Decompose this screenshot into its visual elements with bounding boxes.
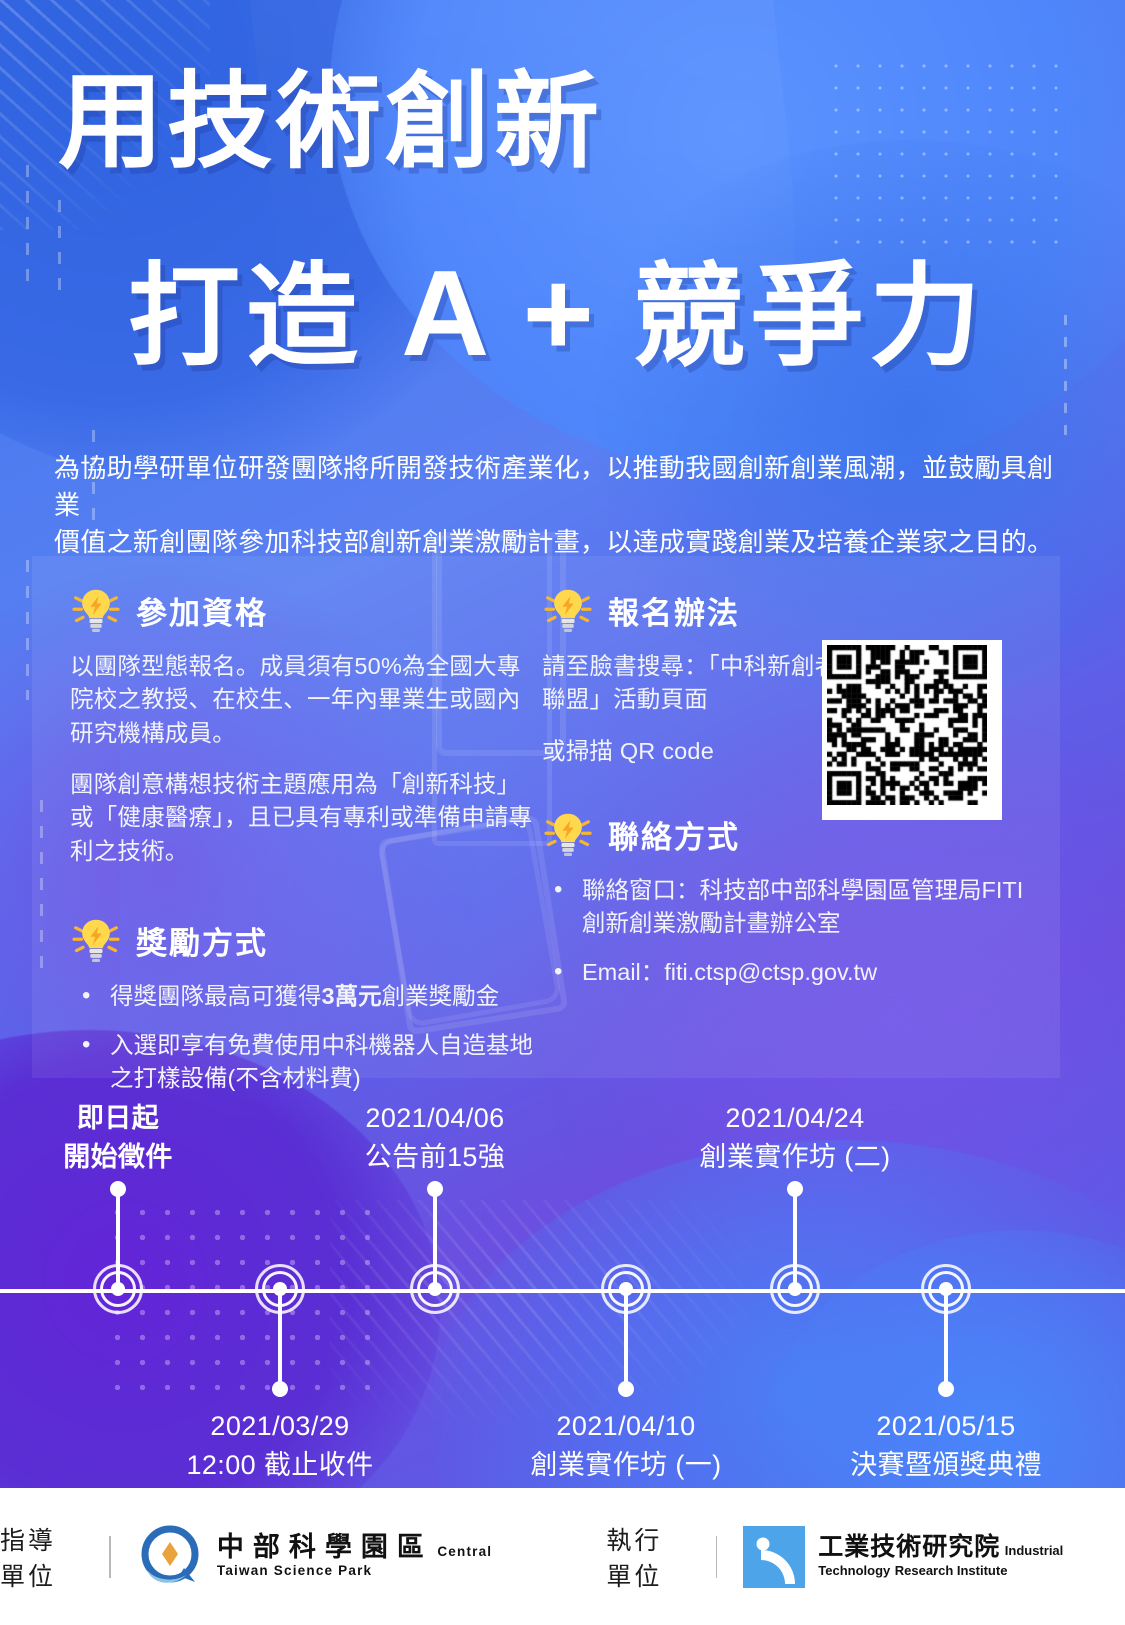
executor-label: 執行單位: [606, 1521, 689, 1593]
supervisor-label: 指導單位: [0, 1521, 83, 1593]
itri-logo: 工業技術研究院 Industrial Technology Research I…: [743, 1526, 1125, 1588]
timeline-stem: [278, 1289, 282, 1389]
section-registration-body: 請至臉書搜尋：「中科新創者聯盟」活動頁面 或掃描 QR code: [542, 650, 852, 768]
timeline-label-title: 12:00 截止收件: [186, 1446, 373, 1485]
lightbulb-icon: [542, 808, 594, 860]
intro-paragraph: 為協助學研單位研發團隊將所開發技術產業化，以推動我國創新創業風潮，並鼓勵具創業 …: [54, 450, 1054, 561]
section-registration-title: 報名辦法: [608, 588, 740, 633]
timeline-label-title: 公告前15強: [365, 1138, 505, 1177]
timeline-label-title: 開始徵件: [63, 1138, 173, 1177]
timeline-stem: [793, 1189, 797, 1289]
timeline-stem-tip: [938, 1381, 954, 1397]
section-eligibility-header: 參加資格: [70, 584, 540, 636]
bg-dot-grid-topright: [825, 55, 1065, 245]
bg-dashed-stroke-right: [1064, 315, 1067, 435]
timeline-label-date: 2021/04/10: [530, 1407, 721, 1446]
headline-line-2-post: 競爭力: [633, 254, 987, 379]
contact-list: 聯絡窗口：科技部中部科學園區管理局FITI創新創業激勵計畫辦公室 Email：f…: [542, 874, 1042, 989]
footer-supervisor-group: 指導單位 中部科學園區 Central Taiwan Science Park: [0, 1521, 521, 1593]
timeline-label: 即日起開始徵件: [63, 1099, 173, 1177]
footer: 指導單位 中部科學園區 Central Taiwan Science Park: [0, 1488, 1125, 1625]
footer-divider: [716, 1536, 717, 1578]
timeline-label-title: 創業實作坊 (一): [530, 1446, 721, 1485]
timeline: 即日起開始徵件2021/03/2912:00 截止收件2021/04/06公告前…: [0, 1078, 1125, 1488]
registration-paragraph-1: 請至臉書搜尋：「中科新創者聯盟」活動頁面: [542, 650, 852, 717]
bg-dash-col-1: [26, 165, 29, 285]
itri-text: 工業技術研究院 Industrial Technology Research I…: [818, 1533, 1125, 1580]
info-column-left: 參加資格 以團隊型態報名。成員須有50%為全國大專院校之教授、在校生、一年內畢業…: [70, 584, 540, 1111]
headline-line-2-pre: 打造: [128, 254, 364, 379]
headline-a-plus: A +: [401, 245, 596, 381]
itri-mark-icon: [743, 1526, 805, 1588]
section-eligibility: 參加資格 以團隊型態報名。成員須有50%為全國大專院校之教授、在校生、一年內畢業…: [70, 584, 540, 868]
timeline-label: 2021/05/15決賽暨頒獎典禮: [850, 1407, 1042, 1485]
timeline-label-date: 2021/05/15: [850, 1407, 1042, 1446]
footer-divider: [109, 1536, 110, 1578]
section-contact: 聯絡方式 聯絡窗口：科技部中部科學園區管理局FITI創新創業激勵計畫辦公室 Em…: [542, 808, 1042, 989]
section-award: 獎勵方式 得獎團隊最高可獲得3萬元創業獎勵金 入選即享有免費使用中科機器人自造基…: [70, 914, 540, 1095]
timeline-label: 2021/04/06公告前15強: [365, 1099, 505, 1177]
intro-line-1: 為協助學研單位研發團隊將所開發技術產業化，以推動我國創新創業風潮，並鼓勵具創業: [54, 450, 1054, 524]
qr-code[interactable]: [822, 640, 1002, 820]
info-column-right: 報名辦法 請至臉書搜尋：「中科新創者聯盟」活動頁面 或掃描 QR code: [542, 584, 1042, 1005]
list-item: 聯絡窗口：科技部中部科學園區管理局FITI創新創業激勵計畫辦公室: [542, 874, 1042, 940]
timeline-label-date: 2021/04/24: [699, 1099, 890, 1138]
timeline-label-date: 2021/04/06: [365, 1099, 505, 1138]
itri-name-en-2: Research Institute: [895, 1563, 1008, 1578]
timeline-stem: [624, 1289, 628, 1389]
ctsp-logo: 中部科學園區 Central Taiwan Science Park: [137, 1524, 521, 1590]
timeline-stem: [433, 1189, 437, 1289]
timeline-stem-tip: [110, 1181, 126, 1197]
award-item-1-pre: 得獎團隊最高可獲得: [110, 983, 322, 1009]
section-award-header: 獎勵方式: [70, 914, 540, 966]
timeline-stem-tip: [427, 1181, 443, 1197]
eligibility-paragraph-1: 以團隊型態報名。成員須有50%為全國大專院校之教授、在校生、一年內畢業生或國內研…: [70, 650, 540, 750]
eligibility-paragraph-2: 團隊創意構想技術主題應用為「創新科技」或「健康醫療」，且已具有專利或準備申請專利…: [70, 768, 540, 868]
list-item: 得獎團隊最高可獲得3萬元創業獎勵金: [70, 980, 540, 1013]
section-registration: 報名辦法 請至臉書搜尋：「中科新創者聯盟」活動頁面 或掃描 QR code: [542, 584, 1042, 768]
section-award-title: 獎勵方式: [136, 918, 268, 963]
section-registration-header: 報名辦法: [542, 584, 1042, 636]
timeline-label: 2021/04/24創業實作坊 (二): [699, 1099, 890, 1177]
section-eligibility-body: 以團隊型態報名。成員須有50%為全國大專院校之教授、在校生、一年內畢業生或國內研…: [70, 650, 540, 868]
timeline-label-title: 創業實作坊 (二): [699, 1138, 890, 1177]
headline-line-1: 用技術創新: [58, 70, 603, 175]
ctsp-mark-icon: [137, 1524, 203, 1590]
poster-root: 用技術創新 打造 A + 競爭力 為協助學研單位研發團隊將所開發技術產業化，以推…: [0, 0, 1125, 1625]
timeline-stem: [944, 1289, 948, 1389]
lightbulb-icon: [70, 914, 122, 966]
lightbulb-icon: [542, 584, 594, 636]
timeline-stem: [116, 1189, 120, 1289]
timeline-label-date: 2021/03/29: [186, 1407, 373, 1446]
info-panel: 參加資格 以團隊型態報名。成員須有50%為全國大專院校之教授、在校生、一年內畢業…: [32, 556, 1060, 1078]
itri-name-cn: 工業技術研究院: [818, 1533, 1000, 1561]
award-item-1-strong: 3萬元: [322, 983, 382, 1009]
timeline-label: 2021/03/2912:00 截止收件: [186, 1407, 373, 1485]
registration-paragraph-2: 或掃描 QR code: [542, 735, 852, 768]
timeline-stem-tip: [272, 1381, 288, 1397]
timeline-label-date: 即日起: [63, 1099, 173, 1138]
section-contact-title: 聯絡方式: [608, 812, 740, 857]
timeline-stem-tip: [787, 1181, 803, 1197]
ctsp-text: 中部科學園區 Central Taiwan Science Park: [217, 1533, 521, 1581]
timeline-stem-tip: [618, 1381, 634, 1397]
bg-dash-col-4: [26, 560, 29, 700]
timeline-label: 2021/04/10創業實作坊 (一): [530, 1407, 721, 1485]
award-item-1-post: 創業獎勵金: [382, 983, 500, 1009]
ctsp-name-cn: 中部科學園區: [217, 1532, 433, 1562]
lightbulb-icon: [70, 584, 122, 636]
bg-dash-col-2: [58, 200, 61, 300]
timeline-label-title: 決賽暨頒獎典禮: [850, 1446, 1042, 1485]
footer-executor-group: 執行單位 工業技術研究院 Industrial Technology Resea…: [606, 1521, 1125, 1593]
headline-line-2: 打造 A + 競爭力: [128, 252, 987, 374]
list-item[interactable]: Email：fiti.ctsp@ctsp.gov.tw: [542, 956, 1042, 989]
section-eligibility-title: 參加資格: [136, 588, 268, 633]
